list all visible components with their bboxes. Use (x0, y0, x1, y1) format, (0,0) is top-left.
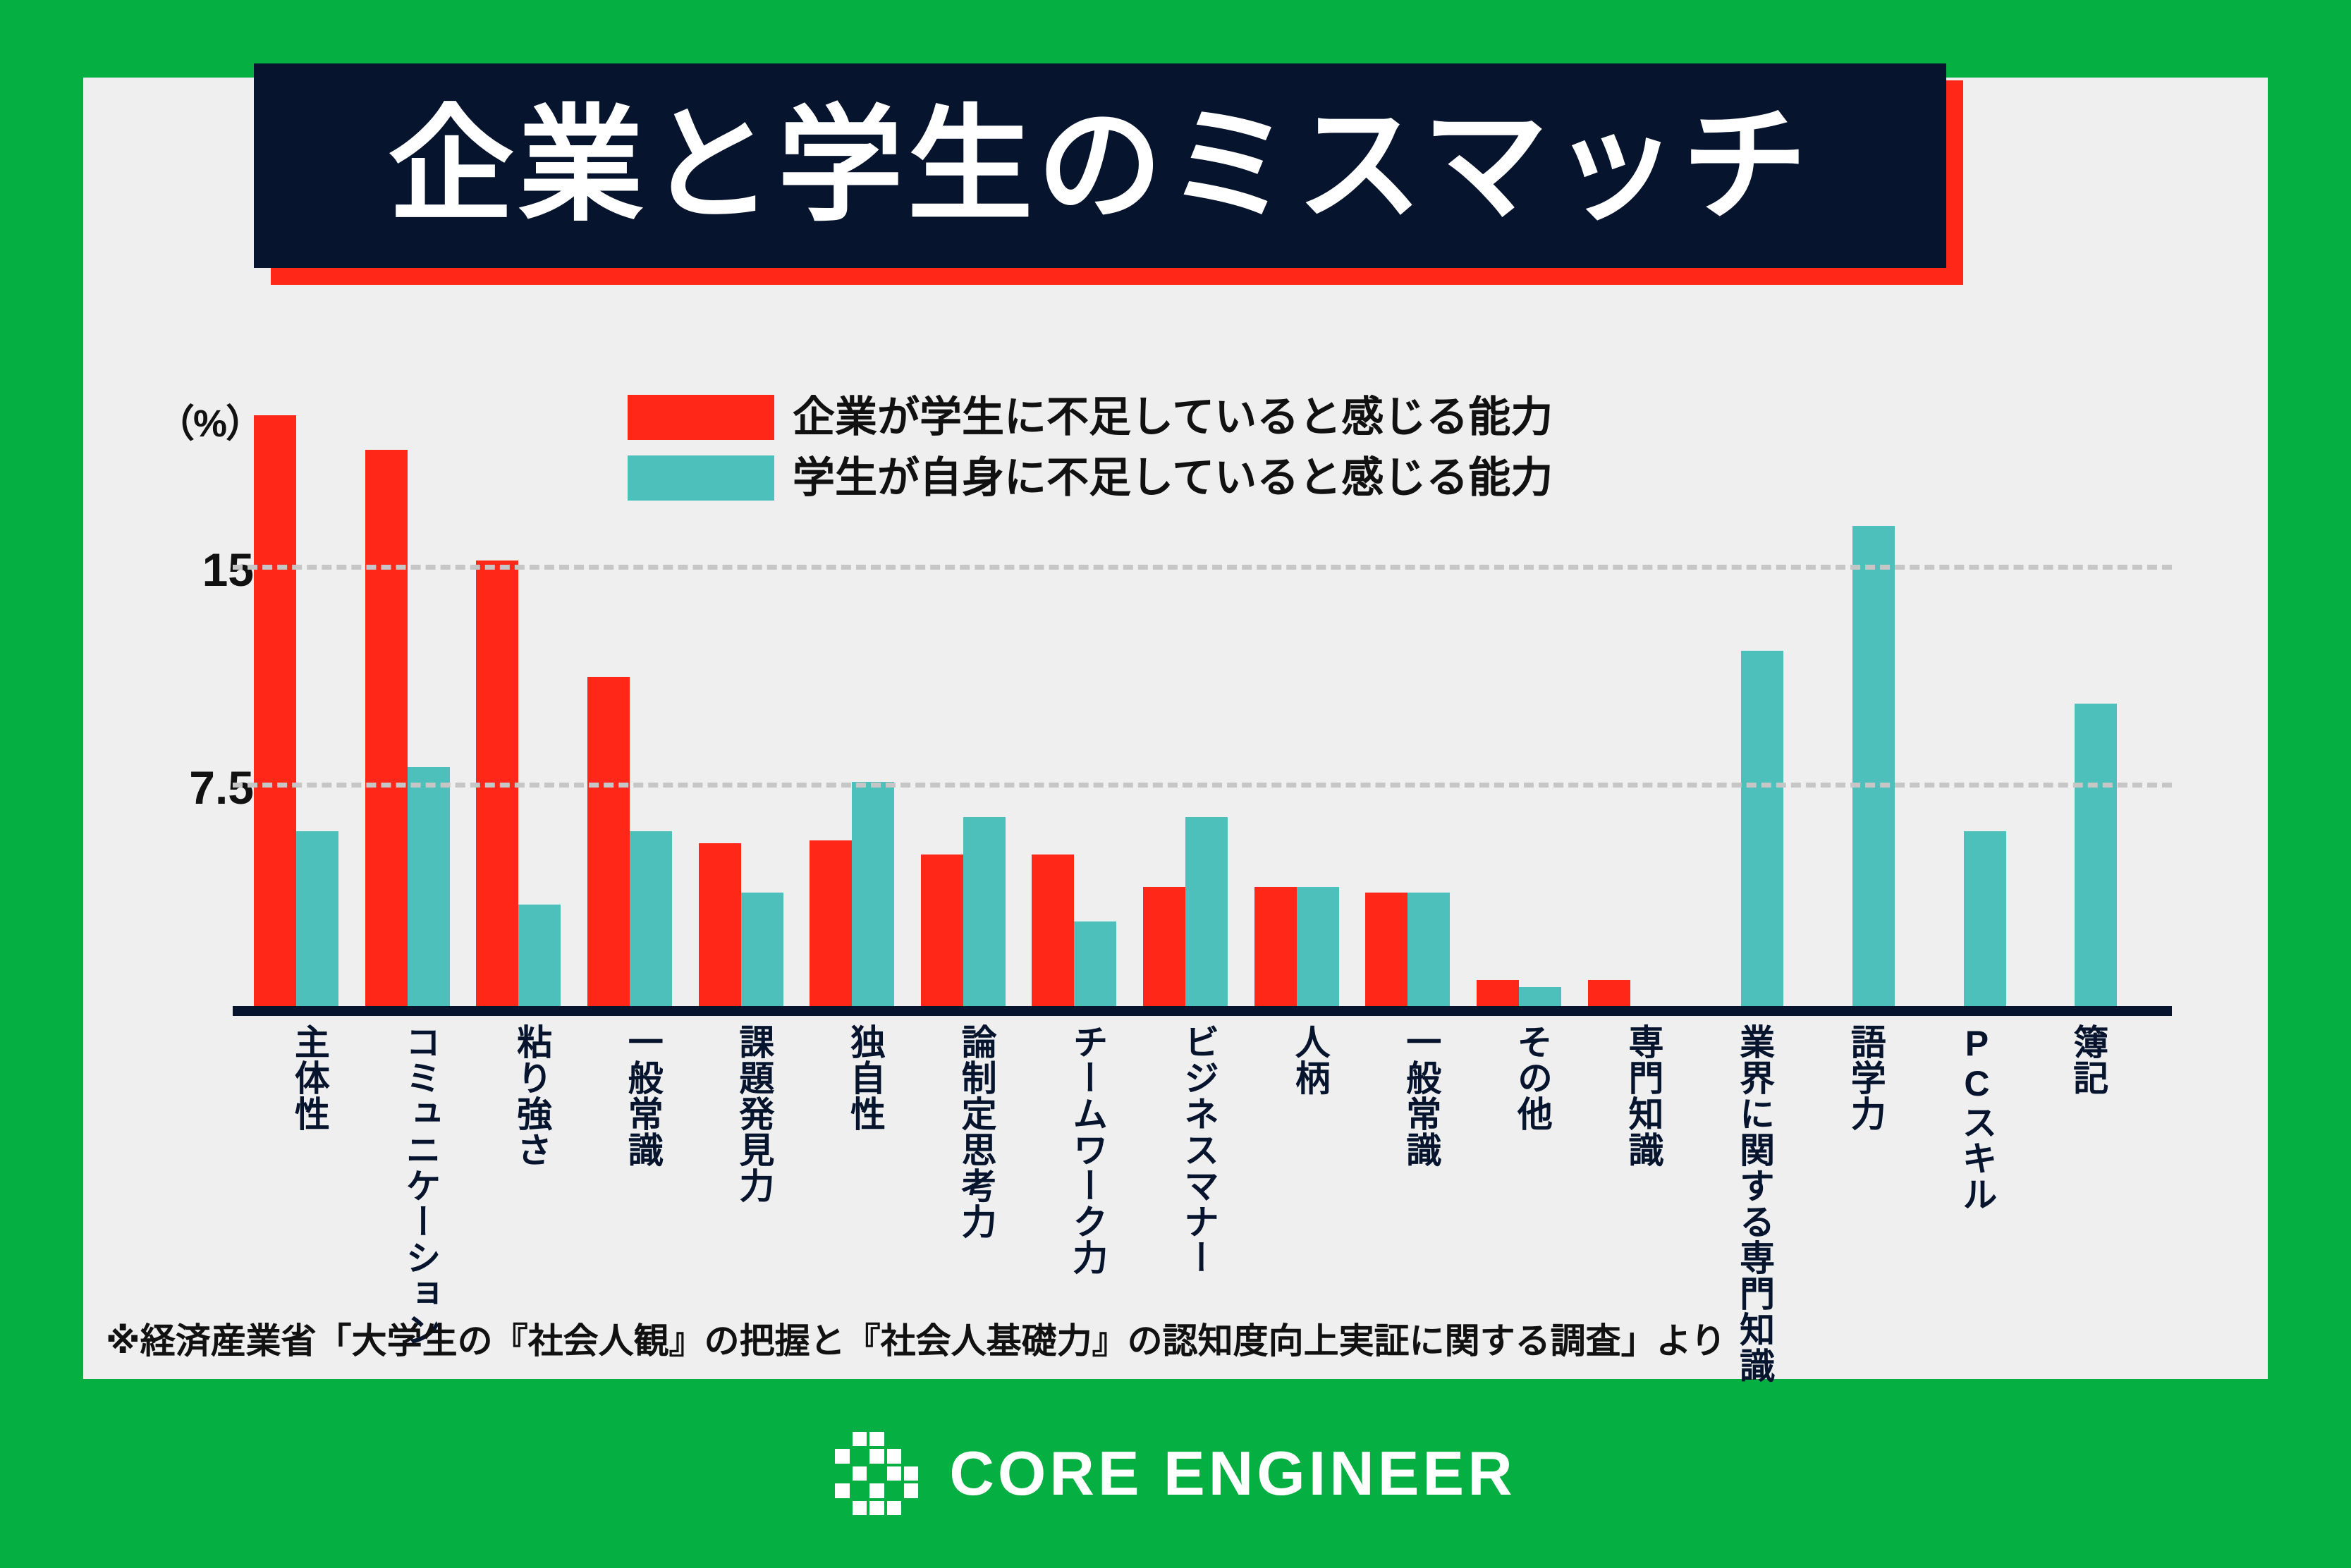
logo-pixel (887, 1466, 901, 1481)
logo-pixel (853, 1449, 867, 1463)
bar-group (1254, 395, 1366, 1006)
x-axis-label: 語学力 (1848, 1024, 1884, 1327)
bar-groups (254, 395, 2144, 1006)
logo-pixel (887, 1449, 901, 1463)
logo-pixel (904, 1501, 918, 1515)
bar-company (1032, 855, 1074, 1006)
x-label-cell: その他 (1477, 1024, 1588, 1327)
logo-pixel (887, 1483, 901, 1497)
bar-student (1185, 817, 1228, 1006)
x-label-cell: 一般常識 (587, 1024, 699, 1327)
bar-student (630, 831, 672, 1006)
x-axis-label: 人柄 (1292, 1024, 1329, 1327)
x-label-cell: 課題発見力 (699, 1024, 810, 1327)
bar-group (699, 395, 810, 1006)
x-label-cell: ビジネスマナー (1143, 1024, 1254, 1327)
logo-pixel (904, 1432, 918, 1446)
logo-pixel (853, 1501, 867, 1515)
logo-pixel (887, 1501, 901, 1515)
bar-group (921, 395, 1032, 1006)
x-label-cell: コミュニケーション (365, 1024, 477, 1327)
y-tick-label-7.5: 7.5 (99, 761, 254, 814)
logo-pixel (853, 1466, 867, 1481)
x-label-cell: チームワーク力 (1032, 1024, 1143, 1327)
logo-pixel (887, 1432, 901, 1446)
bar-student (852, 782, 894, 1006)
x-axis-label: 一般常識 (625, 1024, 661, 1327)
logo-pixel (869, 1501, 884, 1515)
x-label-cell: 一般常識 (1365, 1024, 1477, 1327)
title-block: 企業と学生のミスマッチ (254, 63, 1946, 268)
x-label-cell: 専門知識 (1588, 1024, 1699, 1327)
bar-company (1143, 887, 1185, 1006)
bar-group (587, 395, 699, 1006)
title-box: 企業と学生のミスマッチ (254, 63, 1946, 268)
bar-company (1477, 980, 1519, 1006)
bar-group (1032, 395, 1143, 1006)
bar-group (1699, 395, 1810, 1006)
bar-company (587, 677, 630, 1006)
bar-student (1074, 921, 1116, 1006)
logo-pixel (869, 1466, 884, 1481)
x-axis-label: コミュニケーション (402, 1024, 439, 1327)
x-label-cell: 簿記 (2032, 1024, 2144, 1327)
bar-company (810, 840, 852, 1006)
x-axis-label: 専門知識 (1625, 1024, 1662, 1327)
bar-student (1964, 831, 2006, 1006)
bar-student (963, 817, 1006, 1006)
bar-student (2075, 704, 2117, 1006)
x-axis-line (233, 1006, 2172, 1016)
x-axis-label: 一般常識 (1403, 1024, 1439, 1327)
x-label-cell: 粘り強さ (476, 1024, 587, 1327)
bar-student (518, 905, 561, 1007)
page-title: 企業と学生のミスマッチ (389, 103, 1812, 228)
bar-company (254, 415, 296, 1006)
bar-group (1588, 395, 1699, 1006)
x-axis-label: PCスキル (1958, 1024, 1995, 1327)
brand-name: CORE ENGINEER (949, 1443, 1515, 1505)
bar-company (1365, 893, 1407, 1006)
bar-student (408, 767, 450, 1006)
logo-pixel (835, 1483, 849, 1497)
core-engineer-logo-icon (835, 1432, 918, 1515)
logo-pixel (904, 1483, 918, 1497)
x-axis-label: ビジネスマナー (1180, 1024, 1217, 1327)
bar-group (810, 395, 921, 1006)
y-tick-label-15: 15 (99, 543, 254, 596)
logo-pixel (869, 1483, 884, 1497)
x-axis-label: チームワーク力 (1069, 1024, 1106, 1327)
logo-pixel (853, 1432, 867, 1446)
logo-pixel (904, 1449, 918, 1463)
bar-company (921, 855, 963, 1006)
gridline-7.5 (233, 783, 2172, 788)
x-axis-label: 粘り強さ (513, 1024, 550, 1327)
bar-student (1519, 987, 1561, 1006)
bar-group (1477, 395, 1588, 1006)
bar-company (1588, 980, 1630, 1006)
logo-pixel (869, 1432, 884, 1446)
footer-bar: CORE ENGINEER (0, 1403, 2351, 1544)
x-axis-label: 独自性 (847, 1024, 884, 1327)
x-axis-labels: 主体性コミュニケーション粘り強さ一般常識課題発見力独自性論制定思考力チームワーク… (254, 1024, 2144, 1327)
bar-student (741, 893, 783, 1006)
logo-pixel (869, 1449, 884, 1463)
bar-group (254, 395, 365, 1006)
x-axis-label: 課題発見力 (735, 1024, 772, 1327)
logo-pixel (835, 1501, 849, 1515)
x-axis-label: その他 (1514, 1024, 1551, 1327)
logo-pixel (835, 1466, 849, 1481)
bar-student (296, 831, 338, 1006)
bar-company (365, 450, 408, 1006)
logo-pixel (835, 1449, 849, 1463)
x-axis-label: 主体性 (291, 1024, 328, 1327)
x-axis-label: 論制定思考力 (958, 1024, 995, 1327)
bar-student (1741, 651, 1783, 1006)
bar-group (1365, 395, 1477, 1006)
bar-student (1852, 526, 1895, 1006)
gridline-15 (233, 565, 2172, 570)
bar-group (1922, 395, 2033, 1006)
bar-group (476, 395, 587, 1006)
x-axis-label: 簿記 (2070, 1024, 2106, 1327)
logo-pixel (835, 1432, 849, 1446)
bar-student (1407, 893, 1450, 1006)
x-label-cell: 論制定思考力 (921, 1024, 1032, 1327)
logo-pixel (904, 1466, 918, 1481)
bar-group (1143, 395, 1254, 1006)
bar-company (1254, 887, 1297, 1006)
x-label-cell: 主体性 (254, 1024, 365, 1327)
x-label-cell: 語学力 (1810, 1024, 1922, 1327)
poster-root: 企業と学生のミスマッチ 企業が学生に不足していると感じる能力 学生が自身に不足し… (0, 0, 2351, 1568)
bar-group (365, 395, 477, 1006)
x-label-cell: PCスキル (1922, 1024, 2033, 1327)
x-label-cell: 独自性 (810, 1024, 921, 1327)
bar-company (699, 843, 741, 1006)
source-note: ※経済産業省「大学生の『社会人観』の把握と『社会人基礎力』の認知度向上実証に関す… (106, 1313, 1726, 1364)
plot-area (254, 395, 2144, 1006)
x-label-cell: 人柄 (1254, 1024, 1366, 1327)
x-label-cell: 業界に関する専門知識 (1699, 1024, 1810, 1327)
bar-group (1810, 395, 1922, 1006)
logo-pixel (853, 1483, 867, 1497)
bar-student (1297, 887, 1339, 1006)
bar-group (2032, 395, 2144, 1006)
x-axis-label: 業界に関する専門知識 (1736, 1024, 1773, 1327)
